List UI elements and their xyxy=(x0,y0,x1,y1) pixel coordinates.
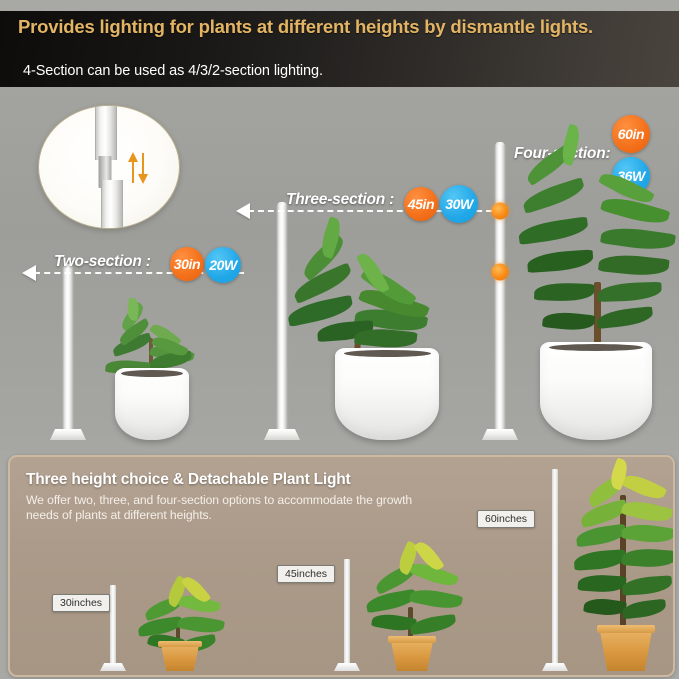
infographic-page: Provides lighting for plants at differen… xyxy=(0,0,679,679)
plant-leaf xyxy=(573,549,626,571)
size-tag-45: 45inches xyxy=(277,565,335,583)
pole-joint-lower xyxy=(492,264,509,281)
label-two-section: Two-section : xyxy=(54,253,151,271)
mini-pole-shaft xyxy=(552,469,558,665)
plant-leaf xyxy=(534,282,595,302)
plant-leaf xyxy=(621,575,672,595)
terracotta-pot xyxy=(391,641,433,671)
panel-title: Three height choice & Detachable Plant L… xyxy=(26,471,351,489)
product-comparison-scene: Two-section : 30in 20W Three-sec xyxy=(0,87,679,451)
plant-leaf xyxy=(177,613,225,636)
plant-leaf xyxy=(409,614,457,635)
detachable-joint-closeup xyxy=(38,105,180,229)
up-down-arrows-icon xyxy=(127,152,149,184)
mini-pole-shaft xyxy=(110,585,116,665)
badge-two-section-height: 30in xyxy=(170,247,204,281)
plant-small xyxy=(93,282,211,440)
badge-two-section-power: 20W xyxy=(205,247,241,283)
pole-shaft xyxy=(496,145,505,430)
plant-pot xyxy=(115,368,189,440)
light-tube-lower xyxy=(101,180,123,229)
bottom-plant-45 xyxy=(356,543,468,671)
plant-leaf xyxy=(598,252,670,278)
page-title: Provides lighting for plants at differen… xyxy=(18,16,618,37)
plant-leaf xyxy=(621,547,675,569)
light-tube-upper xyxy=(95,105,117,160)
plant-large xyxy=(512,142,679,440)
plant-leaf xyxy=(600,224,676,253)
detachable-options-panel: Three height choice & Detachable Plant L… xyxy=(8,455,675,677)
plant-leaf xyxy=(517,216,589,245)
plant-leaf xyxy=(597,282,662,302)
terracotta-pot xyxy=(600,631,652,671)
plant-leaf xyxy=(542,310,595,332)
pot-rim xyxy=(158,641,202,647)
page-subtitle: 4-Section can be used as 4/3/2-section l… xyxy=(23,62,643,80)
pole-base xyxy=(50,429,86,440)
size-tag-60: 60inches xyxy=(477,510,535,528)
plant-leaf xyxy=(409,586,463,612)
bottom-plant-60 xyxy=(562,465,675,671)
plant-pot xyxy=(335,348,439,440)
mini-pole-base xyxy=(100,663,126,671)
plant-leaf xyxy=(621,521,675,545)
size-tag-30: 30inches xyxy=(52,594,110,612)
plant-leaf xyxy=(527,249,594,273)
plant-leaf xyxy=(596,306,653,329)
terracotta-pot xyxy=(161,645,199,671)
lamp-pole-two-section xyxy=(48,267,88,440)
plant-leaf xyxy=(621,497,674,526)
pole-joint-upper xyxy=(492,203,509,220)
pot-rim xyxy=(597,625,655,633)
plant-leaf xyxy=(621,470,668,504)
bottom-plant-30 xyxy=(128,579,232,671)
header-banner: Provides lighting for plants at differen… xyxy=(0,11,679,87)
panel-subtitle: We offer two, three, and four-section op… xyxy=(26,493,446,523)
plant-leaf xyxy=(621,599,666,620)
label-three-section: Three-section : xyxy=(286,191,394,209)
mini-pole-shaft xyxy=(344,559,350,665)
plant-pot xyxy=(540,342,652,440)
pot-rim xyxy=(388,636,436,643)
pole-shaft xyxy=(64,267,73,430)
